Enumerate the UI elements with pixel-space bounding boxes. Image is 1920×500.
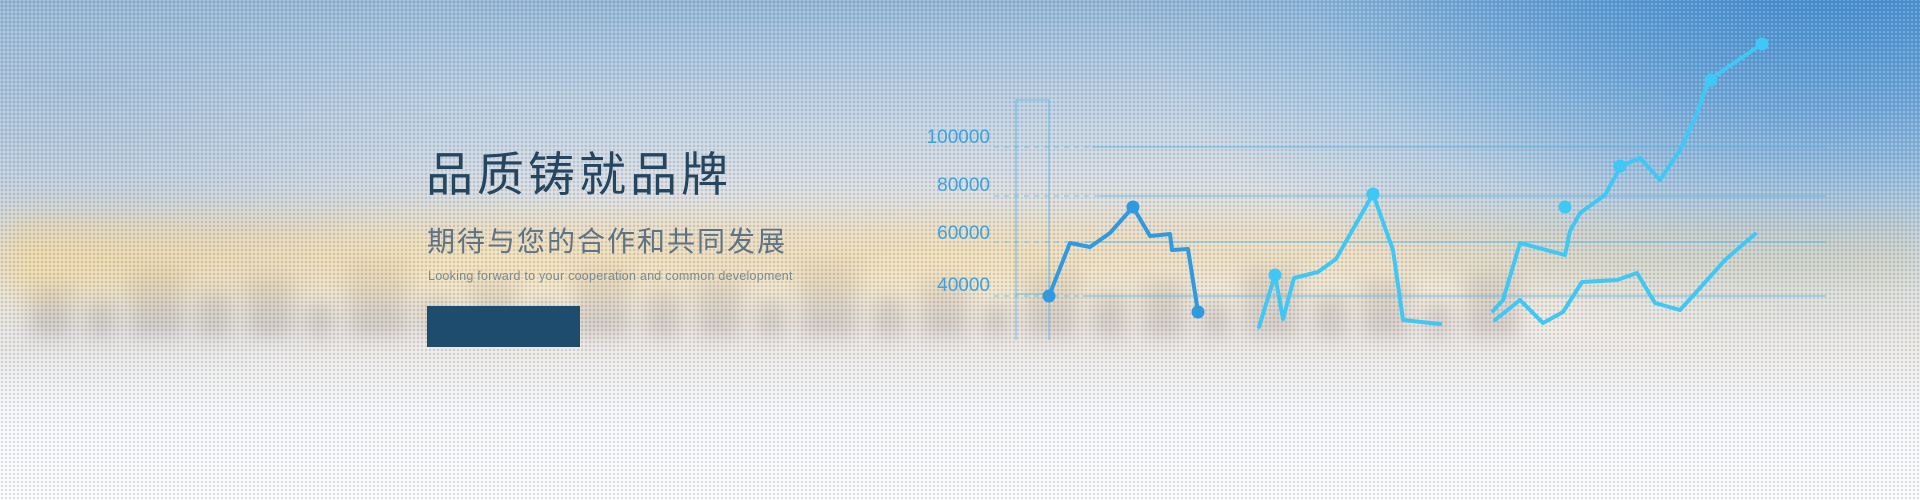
chart-point-marker	[1367, 188, 1380, 201]
hero-banner: 100000800006000040000 品质铸就品牌 期待与您的合作和共同发…	[0, 0, 1920, 500]
chart-point-marker	[1705, 74, 1718, 87]
chart-y-tick-label: 80000	[937, 175, 990, 196]
chart-axis-group	[1016, 100, 1049, 340]
chart-point-marker	[1559, 201, 1572, 214]
chart-point-marker	[1192, 306, 1205, 319]
subtitle-english: Looking forward to your cooperation and …	[428, 270, 793, 283]
cta-button[interactable]	[427, 306, 580, 347]
chart-point-marker	[1127, 201, 1140, 214]
chart-y-tick-label: 100000	[927, 127, 990, 148]
chart-point-marker	[1269, 269, 1282, 282]
subtitle-chinese: 期待与您的合作和共同发展	[427, 228, 787, 256]
hero-text-block: 品质铸就品牌 期待与您的合作和共同发展 Looking forward to y…	[0, 0, 600, 500]
chart-line-series-3-light	[1493, 44, 1762, 311]
chart-y-tick-label: 60000	[937, 223, 990, 244]
chart-highlight-box	[1016, 100, 1049, 294]
chart-point-marker	[1756, 38, 1769, 51]
chart-series-group	[1049, 44, 1762, 327]
page-title: 品质铸就品牌	[426, 151, 732, 198]
chart-point-marker	[1614, 160, 1627, 173]
chart-line-series-2-light	[1259, 194, 1440, 327]
chart-point-marker	[1043, 290, 1056, 303]
chart-y-axis-labels: 100000800006000040000	[927, 127, 990, 296]
chart-y-tick-label: 40000	[937, 275, 990, 296]
